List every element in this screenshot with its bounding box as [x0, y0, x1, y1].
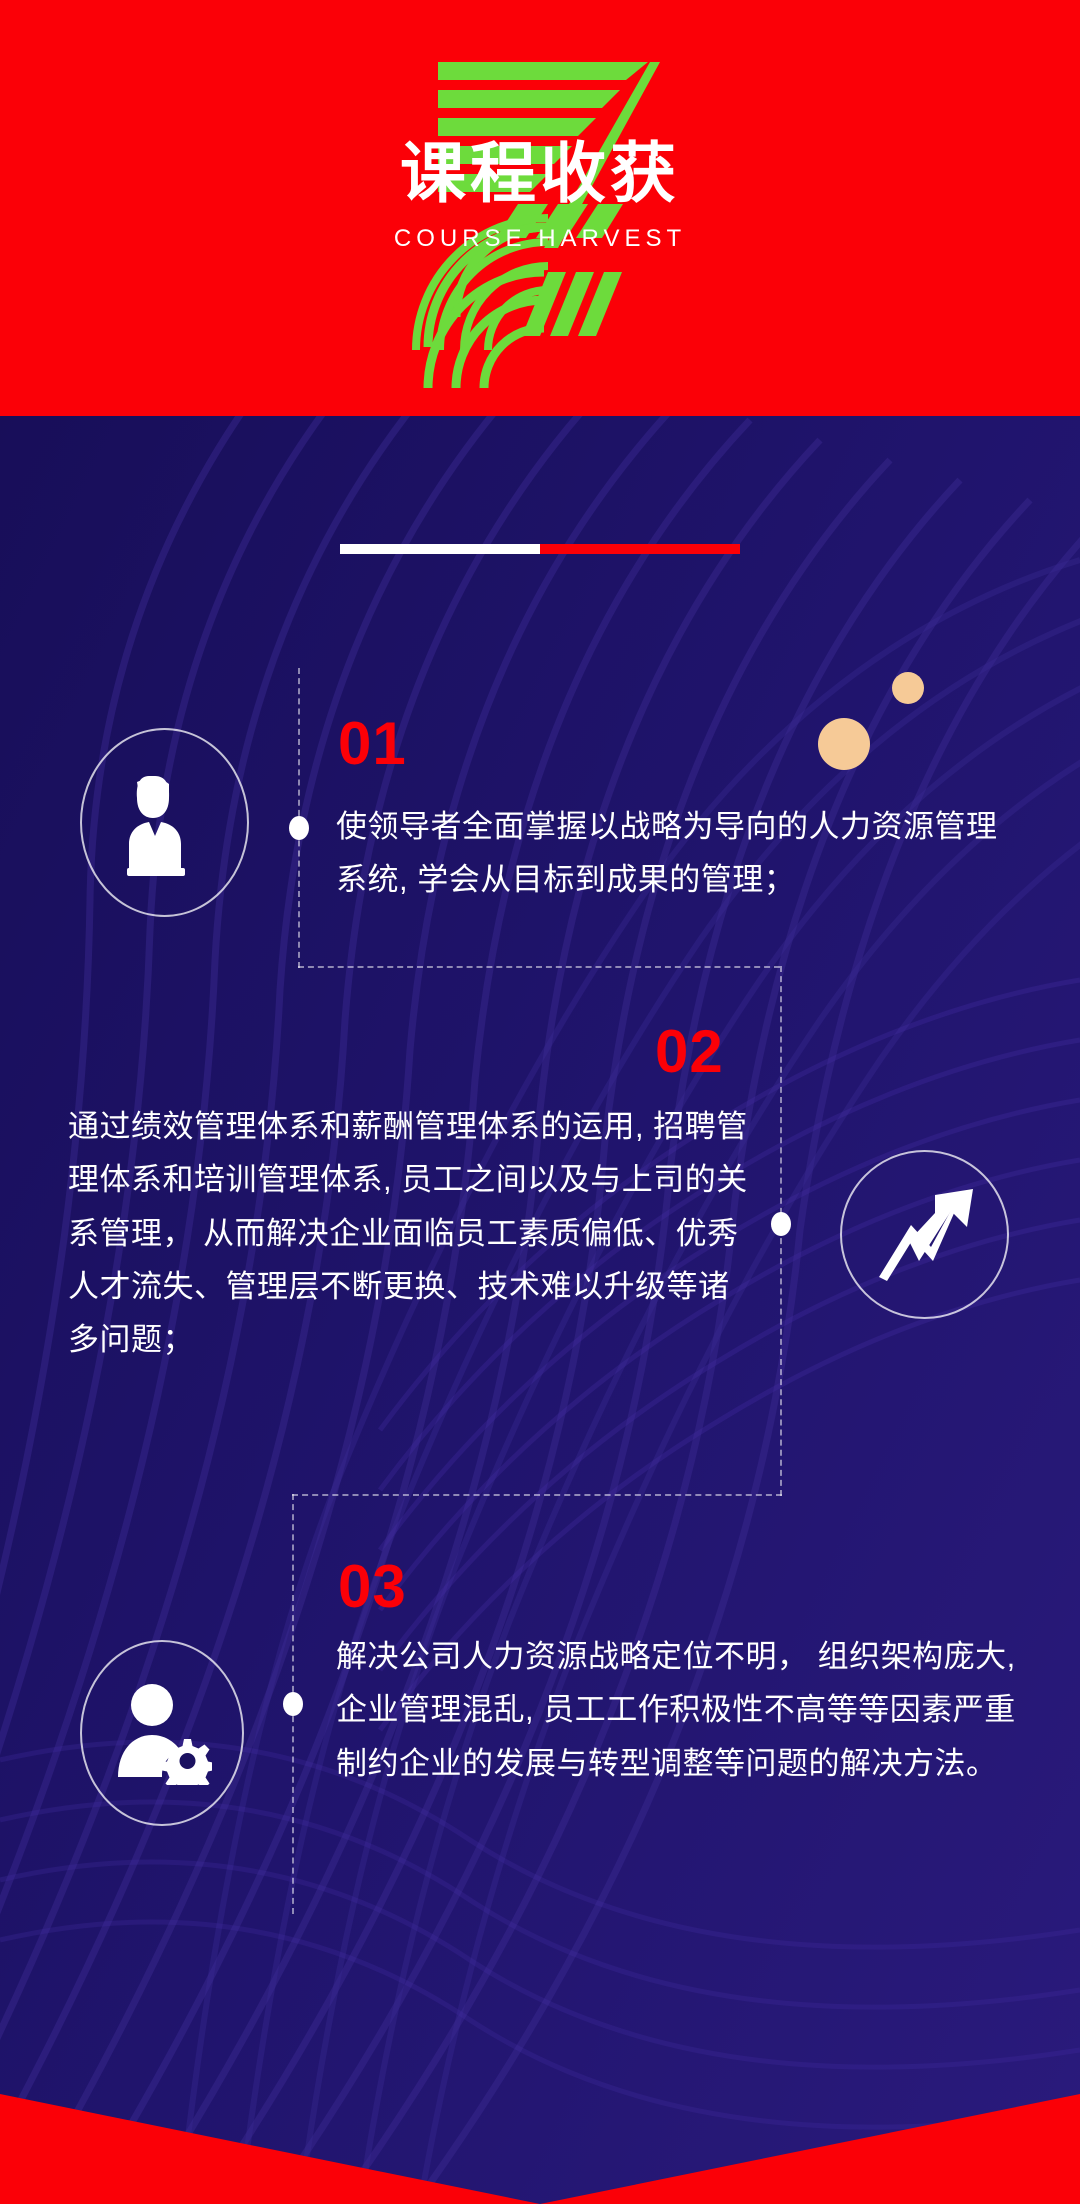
bullet-dot-2 [771, 1212, 791, 1236]
person-at-desk-icon [115, 768, 215, 878]
section-divider [340, 544, 740, 554]
arc-stripes-icon [398, 250, 698, 390]
page-title: 课程收获 [0, 140, 1080, 206]
divider-white-segment [340, 544, 540, 554]
bullet-dot-3 [283, 1692, 303, 1716]
connector-line-2-horizontal [292, 1494, 782, 1496]
bullet-dot-1 [289, 816, 309, 840]
page-subtitle: COURSE HARVEST [0, 225, 1080, 253]
block-text-03: 解决公司人力资源战略定位不明， 组织架构庞大, 企业管理混乱, 员工工作积极性不… [336, 1630, 1026, 1790]
red-chevron-shape [0, 2054, 1080, 2204]
header-banner: 课程收获 COURSE HARVEST [0, 0, 1080, 416]
peach-circle-small-icon [892, 672, 924, 704]
person-gear-icon [112, 1681, 212, 1785]
block-number-02: 02 [655, 1022, 724, 1082]
block-number-01: 01 [338, 714, 407, 774]
block-number-03: 03 [338, 1557, 407, 1617]
block-text-01: 使领导者全面掌握以战略为导向的人力资源管理系统, 学会从目标到成果的管理； [336, 800, 1026, 907]
icon-circle-3 [80, 1640, 244, 1826]
icon-circle-2 [840, 1150, 1009, 1319]
block-text-02: 通过绩效管理体系和薪酬管理体系的运用, 招聘管理体系和培训管理体系, 员工之间以… [68, 1100, 758, 1367]
icon-circle-1 [80, 728, 249, 917]
growth-arrow-icon [873, 1185, 977, 1285]
peach-circle-large-icon [818, 718, 870, 770]
poster-page: 课程收获 COURSE HARVEST [0, 0, 1080, 2204]
connector-line-1-horizontal [298, 966, 780, 968]
divider-red-segment [540, 544, 740, 554]
